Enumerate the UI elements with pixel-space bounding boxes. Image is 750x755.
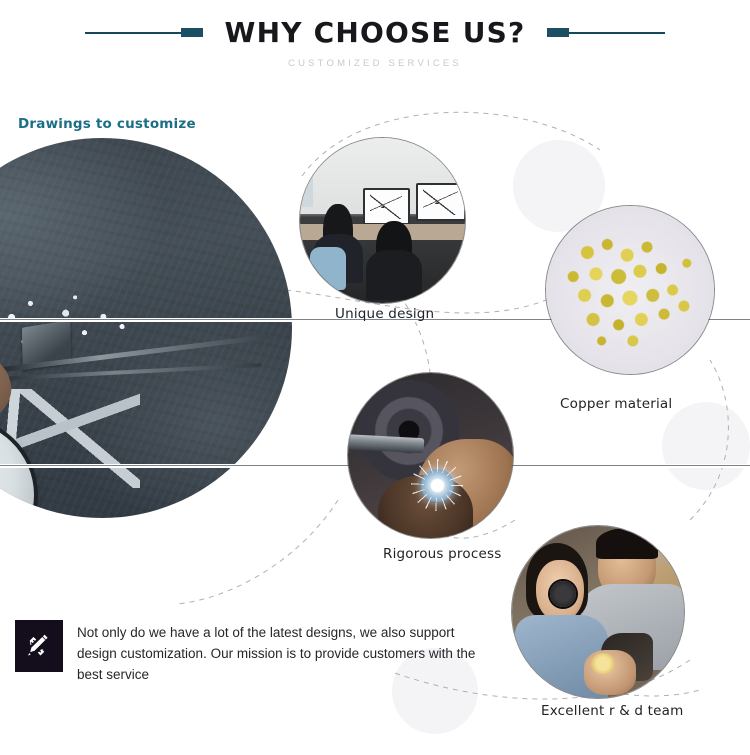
page-subtitle: CUSTOMIZED SERVICES	[0, 58, 750, 69]
rd-team-image	[512, 526, 684, 698]
polishing-ring-image	[348, 373, 513, 538]
why-choose-us-banner: WHY CHOOSE US? CUSTOMIZED SERVICES Drawi…	[0, 0, 750, 755]
bottom-note-text: Not only do we have a lot of the latest …	[77, 620, 485, 685]
header-rule-left	[85, 28, 203, 37]
caption-unique-design: Unique design	[335, 306, 434, 322]
gem-sorting-image	[0, 138, 292, 518]
caption-rigorous-process: Rigorous process	[383, 546, 501, 562]
pencil-ruler-icon	[15, 620, 63, 672]
bottom-note: Not only do we have a lot of the latest …	[15, 620, 485, 685]
rd-team-photo	[512, 526, 684, 698]
copper-material-photo	[546, 206, 714, 374]
drawings-to-customize-label: Drawings to customize	[18, 116, 196, 132]
decor-circle-right	[662, 402, 750, 490]
header-rule-right	[547, 28, 665, 37]
page-title: WHY CHOOSE US?	[225, 16, 526, 49]
copper-granules-image	[546, 206, 714, 374]
unique-design-photo	[300, 138, 465, 303]
header: WHY CHOOSE US? CUSTOMIZED SERVICES	[0, 16, 750, 69]
caption-copper-material: Copper material	[560, 396, 672, 412]
design-office-image	[300, 138, 465, 303]
gem-sorting-photo	[0, 138, 292, 518]
rigorous-process-photo	[348, 373, 513, 538]
caption-rd-team: Excellent r & d team	[541, 703, 684, 719]
